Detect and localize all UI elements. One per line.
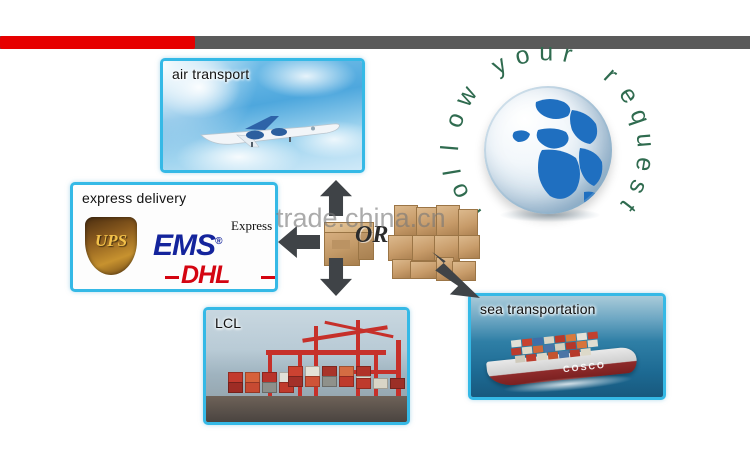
globe-arc-letter: r xyxy=(598,62,624,89)
panel-label-lcl: LCL xyxy=(215,315,241,331)
container-stack-5 xyxy=(356,378,405,389)
express-word-text: Express xyxy=(231,218,272,234)
container-stack-2 xyxy=(228,382,294,393)
arrow-left-icon xyxy=(278,226,320,258)
ups-logo-icon: UPS xyxy=(85,217,137,275)
globe-arc-letter: o xyxy=(444,179,476,203)
panel-express-delivery[interactable]: express delivery UPS EMS® Express DHL xyxy=(70,182,278,292)
globe-arc-letter xyxy=(580,48,600,77)
globe-arc-letter: l xyxy=(436,144,465,152)
panel-lcl[interactable]: LCL xyxy=(203,307,410,425)
dhl-right-bar xyxy=(261,276,275,279)
globe-arc-letter: y xyxy=(487,50,512,81)
dhl-logo-text: DHL xyxy=(181,261,229,290)
globe-arc-letter: u xyxy=(630,132,660,148)
ems-word: EMS xyxy=(153,229,215,262)
top-bar xyxy=(0,36,750,49)
dock-ground xyxy=(206,396,407,422)
or-label: OR xyxy=(355,222,388,249)
arrow-up-icon xyxy=(320,180,352,216)
ups-logo-text: UPS xyxy=(85,231,137,251)
ems-registered-mark: ® xyxy=(215,236,221,247)
panel-label-sea: sea transportation xyxy=(480,301,596,317)
globe-sphere xyxy=(484,86,612,214)
globe-landmasses xyxy=(484,86,612,214)
panel-label-express: express delivery xyxy=(82,190,186,206)
panel-sea-transportation[interactable]: COSCO sea transportation xyxy=(468,293,666,400)
globe-arc-letter: t xyxy=(614,194,641,217)
globe-arc-letter: q xyxy=(623,106,655,129)
panel-label-air: air transport xyxy=(172,66,249,82)
globe-graphic: follow your request xyxy=(452,52,647,222)
dhl-logo-icon: DHL xyxy=(165,263,275,287)
panel-air-transport[interactable]: air transport xyxy=(160,58,365,173)
globe-arc-letter: l xyxy=(438,167,468,177)
crane-boom-1 xyxy=(266,350,386,355)
globe-arc-letter: u xyxy=(539,38,553,67)
top-bar-accent xyxy=(0,36,195,49)
diagram-canvas: air transport express delivery UPS EMS® … xyxy=(0,0,750,450)
airplane-icon xyxy=(193,113,343,149)
globe-arc-letter: e xyxy=(613,82,645,109)
globe-arc-letter: s xyxy=(622,175,654,198)
cardboard-box-pile xyxy=(388,205,480,283)
dhl-left-bar xyxy=(165,276,179,279)
globe-arc-letter: o xyxy=(439,109,471,132)
ems-logo-text: EMS® xyxy=(153,229,221,263)
globe-arc-letter: e xyxy=(629,155,660,174)
